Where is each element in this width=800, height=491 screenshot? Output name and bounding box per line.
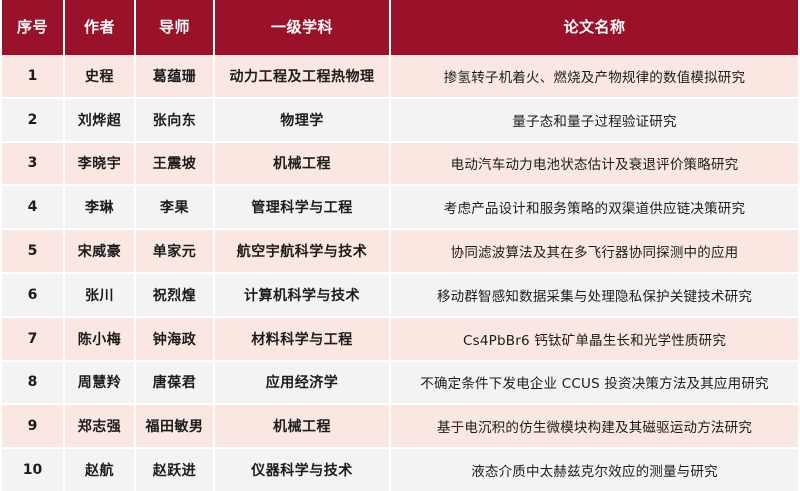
table-row: 3 李晓宇 王震坡 机械工程 电动汽车动力电池状态估计及衰退评价策略研究 [2, 142, 798, 186]
cell-title: 考虑产品设计和服务策略的双渠道供应链决策研究 [390, 185, 798, 229]
paper-list-table: 序号 作者 导师 一级学科 论文名称 1 史程 葛蕴珊 动力工程及工程热物理 掺… [2, 0, 798, 491]
cell-index: 2 [2, 98, 64, 142]
cell-field: 应用经济学 [214, 361, 390, 405]
paper-list-table-container: 序号 作者 导师 一级学科 论文名称 1 史程 葛蕴珊 动力工程及工程热物理 掺… [0, 0, 800, 474]
cell-author: 郑志强 [64, 404, 135, 448]
cell-index: 5 [2, 229, 64, 273]
cell-field: 动力工程及工程热物理 [214, 55, 390, 98]
cell-title: 不确定条件下发电企业 CCUS 投资决策方法及其应用研究 [390, 361, 798, 405]
cell-index: 3 [2, 142, 64, 186]
cell-advisor: 王震坡 [135, 142, 214, 186]
cell-title: 量子态和量子过程验证研究 [390, 98, 798, 142]
cell-author: 周慧羚 [64, 361, 135, 405]
table-row: 5 宋威豪 单家元 航空宇航科学与技术 协同滤波算法及其在多飞行器协同探测中的应… [2, 229, 798, 273]
cell-field: 机械工程 [214, 404, 390, 448]
column-header-advisor[interactable]: 导师 [135, 0, 214, 55]
cell-index: 7 [2, 317, 64, 361]
cell-index: 9 [2, 404, 64, 448]
cell-index: 6 [2, 273, 64, 317]
cell-field: 机械工程 [214, 142, 390, 186]
cell-advisor: 福田敏男 [135, 404, 214, 448]
table-row: 9 郑志强 福田敏男 机械工程 基于电沉积的仿生微模块构建及其磁驱运动方法研究 [2, 404, 798, 448]
column-header-index[interactable]: 序号 [2, 0, 64, 55]
cell-index: 4 [2, 185, 64, 229]
cell-title: 协同滤波算法及其在多飞行器协同探测中的应用 [390, 229, 798, 273]
column-header-author[interactable]: 作者 [64, 0, 135, 55]
cell-author: 史程 [64, 55, 135, 98]
table-row: 4 李琳 李果 管理科学与工程 考虑产品设计和服务策略的双渠道供应链决策研究 [2, 185, 798, 229]
table-row: 2 刘烨超 张向东 物理学 量子态和量子过程验证研究 [2, 98, 798, 142]
cell-title: 液态介质中太赫兹克尔效应的测量与研究 [390, 448, 798, 491]
table-row: 8 周慧羚 唐葆君 应用经济学 不确定条件下发电企业 CCUS 投资决策方法及其… [2, 361, 798, 405]
column-header-field[interactable]: 一级学科 [214, 0, 390, 55]
cell-advisor: 祝烈煌 [135, 273, 214, 317]
table-row: 7 陈小梅 钟海政 材料科学与工程 Cs4PbBr6 钙钛矿单晶生长和光学性质研… [2, 317, 798, 361]
cell-author: 陈小梅 [64, 317, 135, 361]
cell-field: 计算机科学与技术 [214, 273, 390, 317]
cell-author: 李琳 [64, 185, 135, 229]
cell-advisor: 单家元 [135, 229, 214, 273]
cell-advisor: 葛蕴珊 [135, 55, 214, 98]
column-header-title[interactable]: 论文名称 [390, 0, 798, 55]
cell-author: 张川 [64, 273, 135, 317]
cell-field: 管理科学与工程 [214, 185, 390, 229]
table-body: 1 史程 葛蕴珊 动力工程及工程热物理 掺氢转子机着火、燃烧及产物规律的数值模拟… [2, 55, 798, 491]
cell-author: 刘烨超 [64, 98, 135, 142]
cell-advisor: 赵跃进 [135, 448, 214, 491]
table-header-row: 序号 作者 导师 一级学科 论文名称 [2, 0, 798, 55]
cell-title: Cs4PbBr6 钙钛矿单晶生长和光学性质研究 [390, 317, 798, 361]
cell-author: 宋威豪 [64, 229, 135, 273]
cell-title: 掺氢转子机着火、燃烧及产物规律的数值模拟研究 [390, 55, 798, 98]
cell-advisor: 钟海政 [135, 317, 214, 361]
table-header: 序号 作者 导师 一级学科 论文名称 [2, 0, 798, 55]
cell-title: 电动汽车动力电池状态估计及衰退评价策略研究 [390, 142, 798, 186]
cell-field: 物理学 [214, 98, 390, 142]
cell-author: 赵航 [64, 448, 135, 491]
cell-advisor: 张向东 [135, 98, 214, 142]
cell-author: 李晓宇 [64, 142, 135, 186]
cell-index: 10 [2, 448, 64, 491]
table-row: 10 赵航 赵跃进 仪器科学与技术 液态介质中太赫兹克尔效应的测量与研究 [2, 448, 798, 491]
cell-title: 基于电沉积的仿生微模块构建及其磁驱运动方法研究 [390, 404, 798, 448]
cell-advisor: 唐葆君 [135, 361, 214, 405]
table-row: 6 张川 祝烈煌 计算机科学与技术 移动群智感知数据采集与处理隐私保护关键技术研… [2, 273, 798, 317]
cell-field: 材料科学与工程 [214, 317, 390, 361]
cell-advisor: 李果 [135, 185, 214, 229]
table-row: 1 史程 葛蕴珊 动力工程及工程热物理 掺氢转子机着火、燃烧及产物规律的数值模拟… [2, 55, 798, 98]
cell-index: 8 [2, 361, 64, 405]
cell-title: 移动群智感知数据采集与处理隐私保护关键技术研究 [390, 273, 798, 317]
cell-index: 1 [2, 55, 64, 98]
cell-field: 航空宇航科学与技术 [214, 229, 390, 273]
cell-field: 仪器科学与技术 [214, 448, 390, 491]
